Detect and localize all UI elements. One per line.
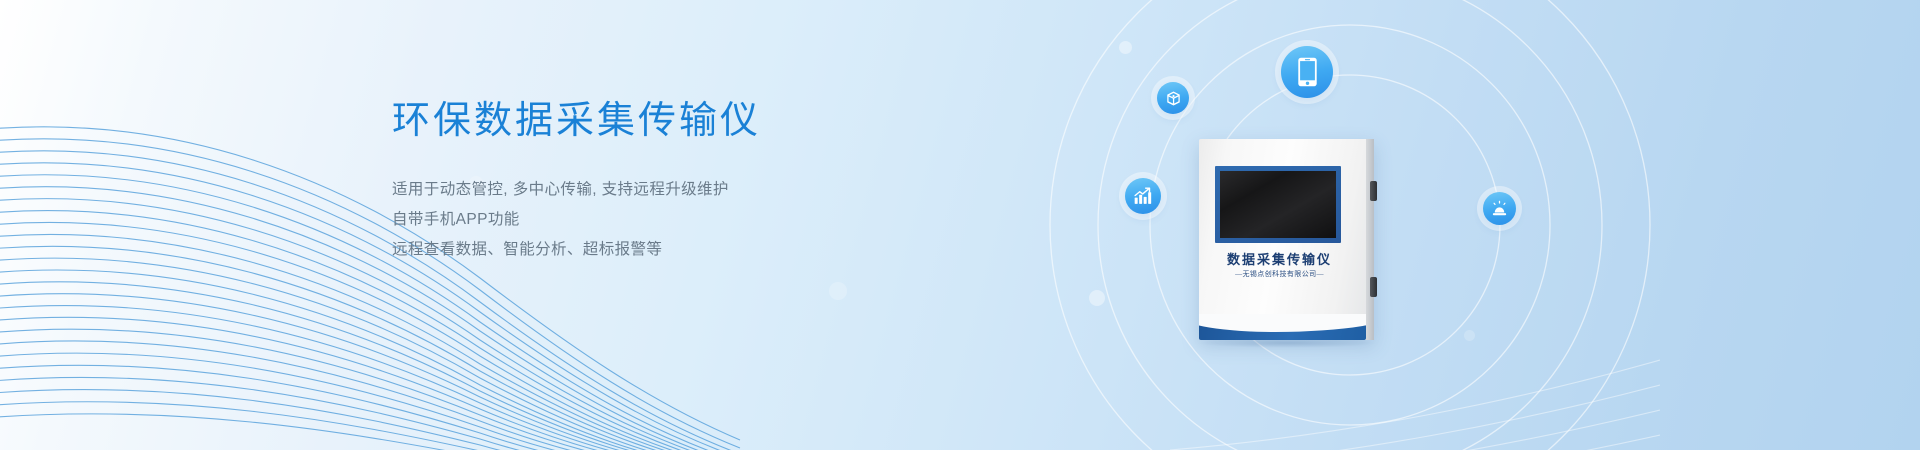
device-brand-text: 数据采集传输仪	[1199, 249, 1360, 268]
banner-subtitle-1: 适用于动态管控, 多中心传输, 支持远程升级维护	[392, 175, 952, 205]
banner-title: 环保数据采集传输仪	[392, 96, 952, 147]
banner-copy: 环保数据采集传输仪 适用于动态管控, 多中心传输, 支持远程升级维护 自带手机A…	[392, 96, 952, 265]
device-screen-bezel	[1215, 166, 1341, 243]
device-side-edge	[1366, 139, 1374, 340]
bokeh-dot	[1464, 330, 1475, 341]
device-hinge-top	[1370, 181, 1377, 201]
phone-icon-glyph	[1297, 57, 1318, 87]
banner-subtitle-list: 适用于动态管控, 多中心传输, 支持远程升级维护 自带手机APP功能 远程查看数…	[392, 175, 952, 265]
bokeh-dot	[829, 282, 847, 300]
cube-icon[interactable]	[1157, 82, 1189, 114]
chart-icon-glyph	[1133, 186, 1153, 206]
cube-icon-glyph	[1165, 90, 1182, 107]
product-banner: 环保数据采集传输仪 适用于动态管控, 多中心传输, 支持远程升级维护 自带手机A…	[0, 0, 1920, 450]
bokeh-dot	[1119, 41, 1132, 54]
alarm-icon[interactable]	[1483, 192, 1516, 225]
device-hinge-bottom	[1370, 277, 1377, 297]
device-image: 数据采集传输仪 —无锡点创科技有限公司—	[1199, 139, 1374, 340]
phone-icon[interactable]	[1281, 46, 1333, 98]
chart-icon[interactable]	[1125, 178, 1161, 214]
banner-subtitle-3: 远程查看数据、智能分析、超标报警等	[392, 235, 952, 265]
bokeh-dot	[1089, 290, 1105, 306]
device-screen	[1220, 171, 1336, 238]
device-footer-band	[1199, 314, 1366, 340]
device-company-text: —无锡点创科技有限公司—	[1199, 269, 1360, 279]
banner-subtitle-2: 自带手机APP功能	[392, 205, 952, 235]
alarm-icon-glyph	[1490, 199, 1509, 218]
